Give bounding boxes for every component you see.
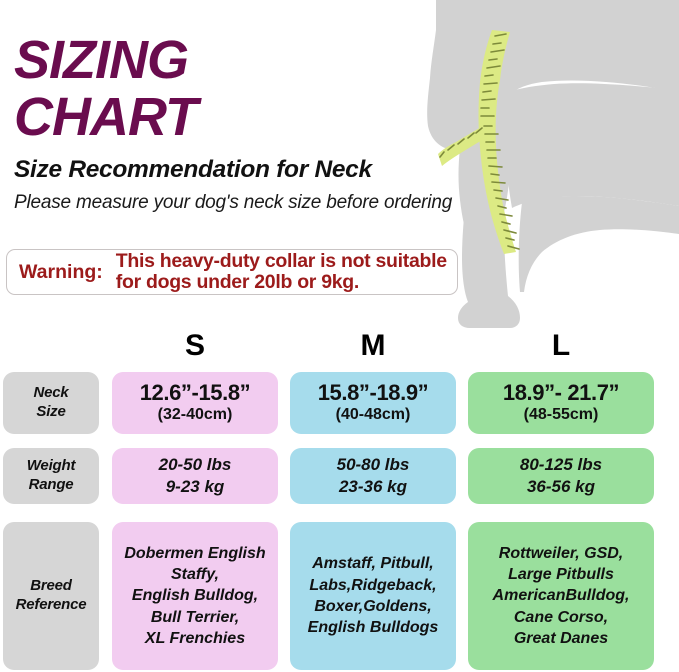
cell-neck-size-large-inches: 18.9”- 21.7”: [503, 381, 619, 405]
cell-breed-medium: Amstaff, Pitbull, Labs,Ridgeback, Boxer,…: [290, 522, 456, 670]
header-block: SIZING CHART Size Recommendation for Nec…: [14, 34, 484, 214]
cell-neck-size-small-inches: 12.6”-15.8”: [140, 381, 251, 405]
breed-line: Large Pitbulls: [508, 564, 614, 585]
column-header-small: S: [112, 330, 278, 362]
warning-box: Warning: This heavy-duty collar is not s…: [6, 249, 458, 295]
warning-message-line-1: This heavy-duty collar is not suitable: [116, 251, 447, 272]
cell-breed-large: Rottweiler, GSD, Large Pitbulls American…: [468, 522, 654, 670]
cell-weight-medium-lbs: 50-80 lbs: [337, 454, 410, 476]
warning-label: Warning:: [19, 261, 103, 284]
page-title-line-1: SIZING: [14, 34, 484, 87]
cell-weight-large-kg: 36-56 kg: [527, 476, 595, 498]
column-header-medium: M: [290, 330, 456, 362]
row-label-breed-reference-line-1: Breed: [30, 577, 72, 596]
cell-neck-size-small-cm: (32-40cm): [158, 406, 233, 424]
row-label-neck-size-line-2: Size: [36, 403, 65, 422]
breed-line: Rottweiler, GSD,: [499, 543, 623, 564]
cell-neck-size-medium: 15.8”-18.9” (40-48cm): [290, 372, 456, 434]
row-label-neck-size-line-1: Neck: [33, 384, 68, 403]
cell-weight-small-kg: 9-23 kg: [166, 476, 225, 498]
cell-weight-small: 20-50 lbs 9-23 kg: [112, 448, 278, 504]
breed-line: Cane Corso,: [514, 607, 608, 628]
cell-breed-small: Dobermen English Staffy, English Bulldog…: [112, 522, 278, 670]
breed-line: Great Danes: [514, 628, 608, 649]
breed-line: Dobermen English: [124, 543, 265, 564]
dog-torso-shape: [496, 83, 679, 208]
cell-weight-medium: 50-80 lbs 23-36 kg: [290, 448, 456, 504]
column-header-large: L: [468, 330, 654, 362]
breed-line: Amstaff, Pitbull,: [312, 553, 434, 574]
cell-weight-small-lbs: 20-50 lbs: [159, 454, 232, 476]
measuring-tape-band: [479, 30, 517, 254]
breed-line: English Bulldogs: [308, 617, 439, 638]
cell-weight-large: 80-125 lbs 36-56 kg: [468, 448, 654, 504]
breed-line: Staffy,: [171, 564, 219, 585]
size-table: S M L Neck Size 12.6”-15.8” (32-40cm) 15…: [0, 330, 679, 672]
breed-line: Bull Terrier,: [151, 607, 239, 628]
breed-line: XL Frenchies: [145, 628, 245, 649]
warning-message: This heavy-duty collar is not suitable f…: [116, 251, 447, 293]
cell-weight-medium-kg: 23-36 kg: [339, 476, 407, 498]
breed-line: AmericanBulldog,: [493, 585, 630, 606]
sizing-chart-page: SIZING CHART Size Recommendation for Nec…: [0, 0, 679, 672]
row-label-weight-range-line-2: Range: [29, 476, 74, 495]
row-label-breed-reference: Breed Reference: [3, 522, 99, 670]
row-label-breed-reference-line-2: Reference: [16, 596, 87, 615]
cell-weight-large-lbs: 80-125 lbs: [520, 454, 602, 476]
dog-front-leg-shape: [458, 196, 520, 328]
row-label-weight-range: Weight Range: [3, 448, 99, 504]
cell-neck-size-medium-cm: (40-48cm): [336, 406, 411, 424]
row-label-neck-size: Neck Size: [3, 372, 99, 434]
dog-hind-leg-shape: [519, 196, 679, 292]
warning-message-line-2: for dogs under 20lb or 9kg.: [116, 272, 447, 293]
cell-neck-size-large: 18.9”- 21.7” (48-55cm): [468, 372, 654, 434]
cell-neck-size-medium-inches: 15.8”-18.9”: [318, 381, 429, 405]
page-title-line-2: CHART: [14, 91, 484, 144]
breed-line: Boxer,Goldens,: [314, 596, 431, 617]
breed-line: Labs,Ridgeback,: [309, 575, 436, 596]
cell-neck-size-large-cm: (48-55cm): [524, 406, 599, 424]
row-label-weight-range-line-1: Weight: [27, 457, 76, 476]
breed-line: English Bulldog,: [132, 585, 258, 606]
cell-neck-size-small: 12.6”-15.8” (32-40cm): [112, 372, 278, 434]
page-subtitle: Size Recommendation for Neck: [14, 156, 484, 184]
measure-instruction-text: Please measure your dog's neck size befo…: [14, 192, 484, 214]
